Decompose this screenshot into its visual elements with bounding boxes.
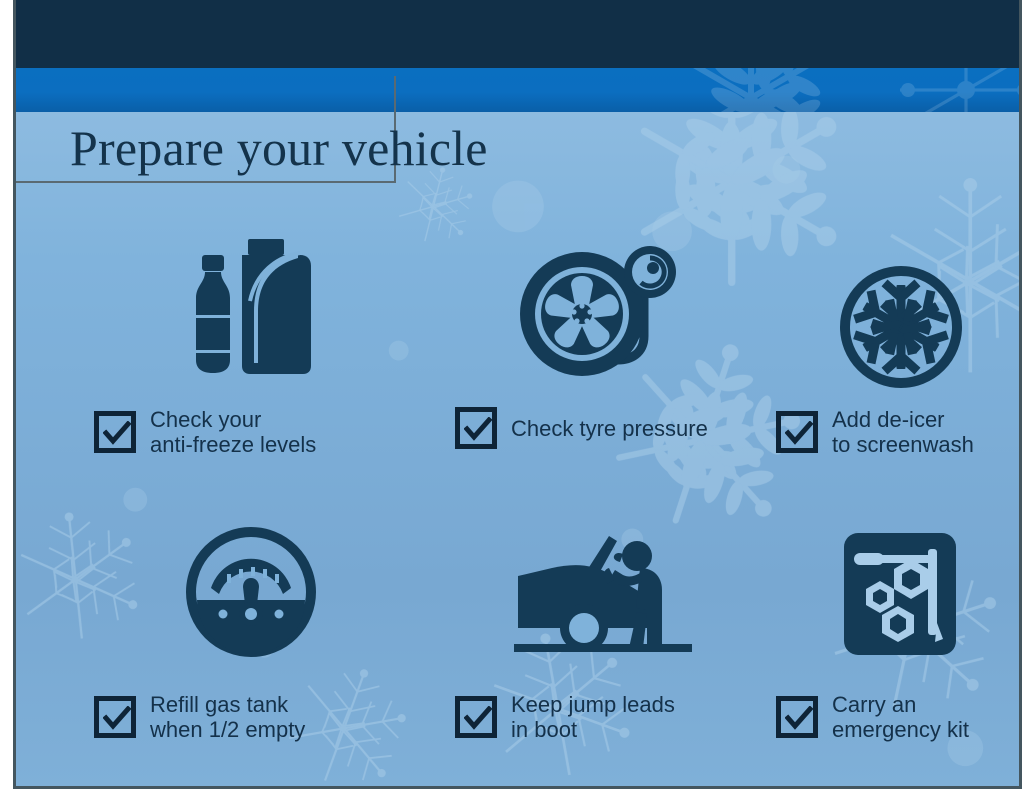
checkbox-anti-freeze[interactable] [94, 411, 136, 453]
checkbox-row-emergency-kit[interactable]: Carry an emergency kit [776, 692, 969, 742]
checkbox-row-gas-tank[interactable]: Refill gas tank when 1/2 empty [94, 692, 305, 742]
checklist-item-gas-tank[interactable]: Refill gas tank when 1/2 empty [76, 512, 426, 772]
page-title: Prepare your vehicle [70, 118, 488, 178]
oil-bottles-icon [76, 222, 426, 392]
checkbox-row-de-icer[interactable]: Add de-icer to screenwash [776, 407, 974, 457]
tyre-pressure-gauge-icon [441, 222, 771, 392]
car-bonnet-mechanic-icon [441, 512, 771, 662]
band-snowflake-art-2 [896, 68, 1019, 112]
checklist-item-anti-freeze[interactable]: Check your anti-freeze levels [76, 222, 426, 472]
top-dark-band [16, 0, 1019, 68]
title-textbox-rule-left [16, 181, 52, 183]
checklist-label-emergency-kit: Carry an emergency kit [832, 692, 969, 742]
slide-canvas: Prepare your vehicle [13, 0, 1022, 789]
checkbox-jump-leads[interactable] [455, 696, 497, 738]
checklist-item-tyre-pressure[interactable]: Check tyre pressure [441, 222, 771, 472]
checkbox-gas-tank[interactable] [94, 696, 136, 738]
checklist-item-de-icer[interactable]: Add de-icer to screenwash [766, 222, 1022, 472]
checklist-label-anti-freeze: Check your anti-freeze levels [150, 407, 316, 457]
checkbox-tyre-pressure[interactable] [455, 407, 497, 449]
checkbox-de-icer[interactable] [776, 411, 818, 453]
checkbox-row-tyre-pressure[interactable]: Check tyre pressure [455, 407, 708, 449]
checkbox-row-anti-freeze[interactable]: Check your anti-freeze levels [94, 407, 316, 457]
checklist-label-de-icer: Add de-icer to screenwash [832, 407, 974, 457]
band-snowflake-art [646, 68, 906, 112]
checklist-label-jump-leads: Keep jump leads in boot [511, 692, 675, 742]
checkbox-emergency-kit[interactable] [776, 696, 818, 738]
fuel-gauge-icon [76, 512, 426, 662]
checklist-grid: Check your anti-freeze levels [16, 112, 1019, 789]
snowflake-circle-icon [766, 222, 1022, 392]
checklist-item-jump-leads[interactable]: Keep jump leads in boot [441, 512, 771, 772]
checkbox-row-jump-leads[interactable]: Keep jump leads in boot [455, 692, 675, 742]
checklist-label-tyre-pressure: Check tyre pressure [511, 416, 708, 441]
checklist-item-emergency-kit[interactable]: Carry an emergency kit [766, 512, 1022, 772]
checklist-label-gas-tank: Refill gas tank when 1/2 empty [150, 692, 305, 742]
toolbox-icon [766, 512, 1022, 662]
